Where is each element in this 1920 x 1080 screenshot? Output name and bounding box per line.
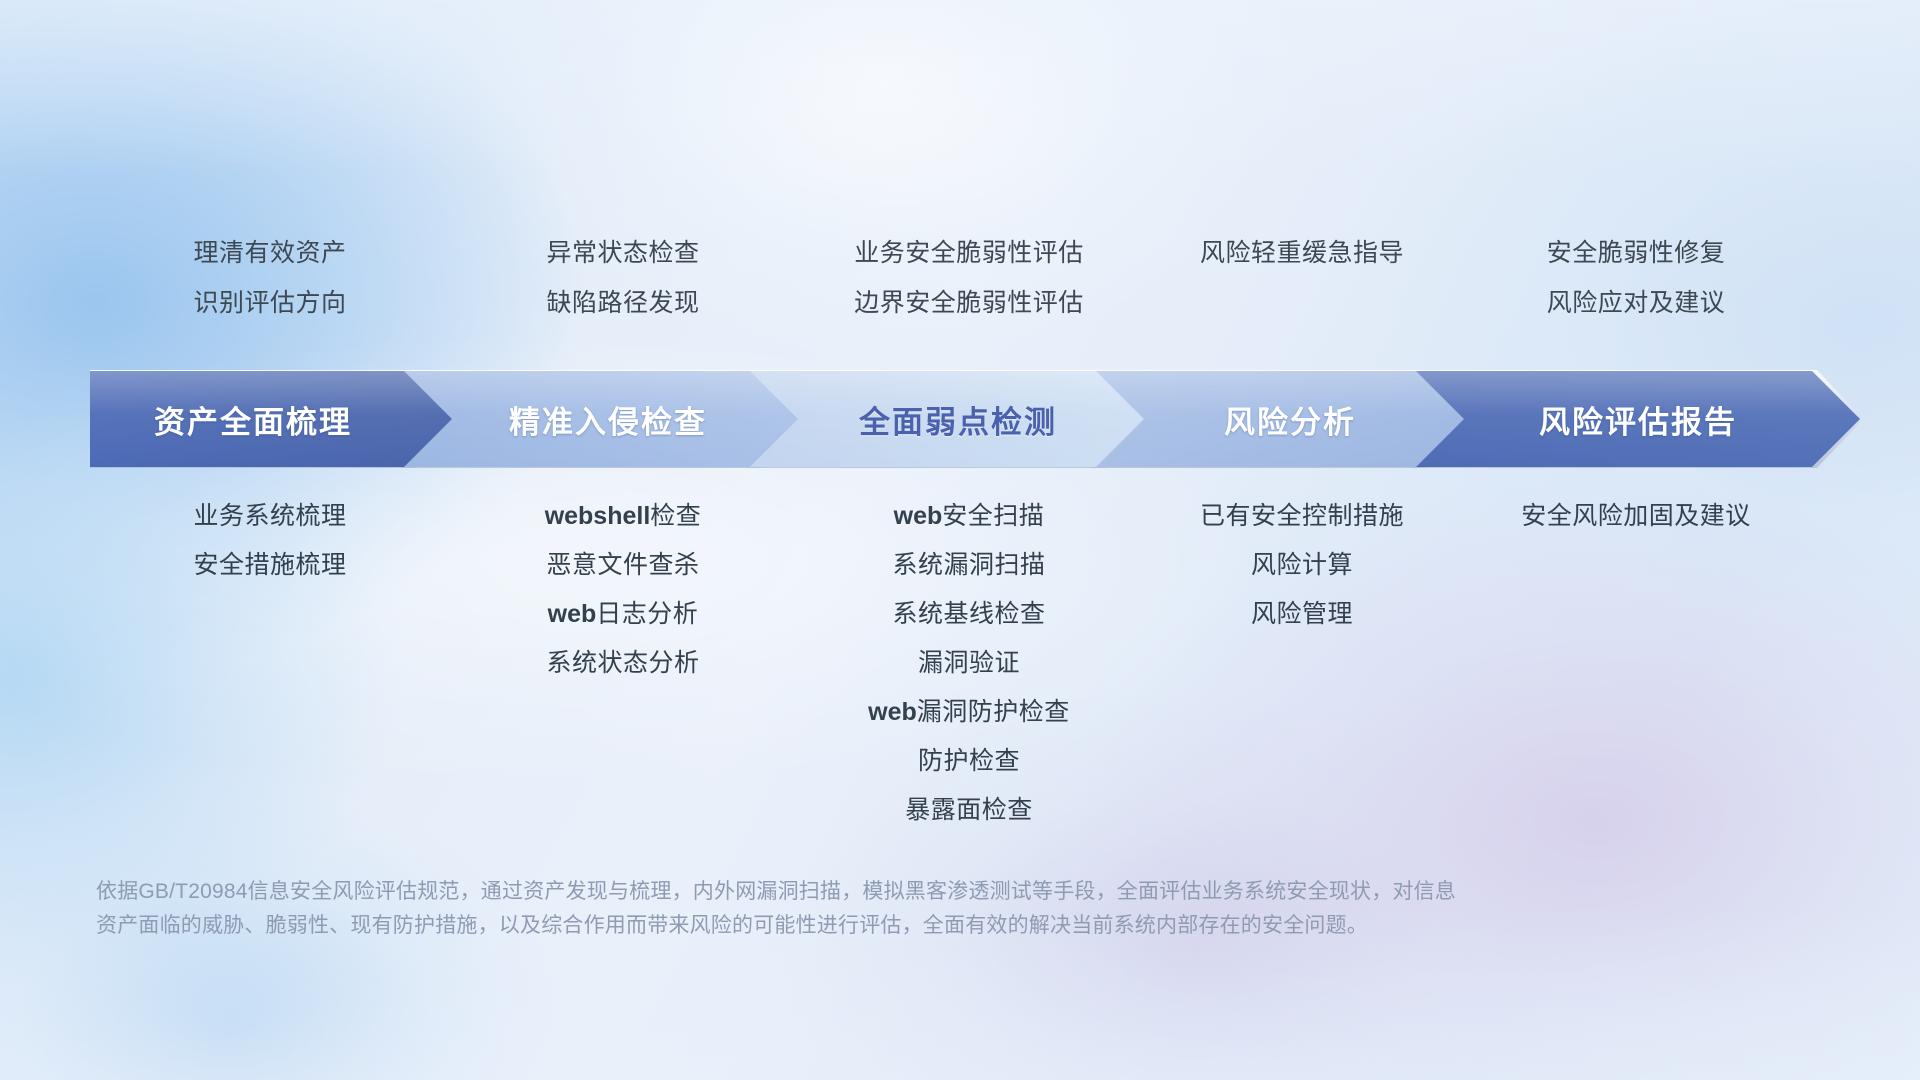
list-item: web漏洞防护检查 [796,688,1142,737]
footer-line-2: 资产面临的威胁、脆弱性、现有防护措施，以及综合作用而带来风险的可能性进行评估，全… [96,909,1656,943]
list-item: 风险管理 [1142,590,1462,639]
list-item: 漏洞验证 [796,639,1142,688]
list-item-suffix: 安全扫描 [942,502,1044,530]
top-note: 异常状态检查 [450,228,796,278]
top-notes-step-4: 风险轻重缓急指导 [1142,228,1462,328]
list-item: 暴露面检查 [796,786,1142,835]
top-notes-step-5: 安全脆弱性修复 风险应对及建议 [1462,228,1810,328]
top-note: 风险应对及建议 [1462,278,1810,328]
list-item: 风险计算 [1142,541,1462,590]
top-notes-step-2: 异常状态检查 缺陷路径发现 [450,228,796,328]
list-item: web日志分析 [450,590,796,639]
chevron-label-step-5[interactable]: 风险评估报告 [1462,397,1860,442]
list-item-suffix: 漏洞防护检查 [917,698,1070,726]
items-step-1: 业务系统梳理 安全措施梳理 [90,492,450,835]
list-item-suffix: 日志分析 [596,600,698,628]
items-step-4: 已有安全控制措施 风险计算 风险管理 [1142,492,1462,835]
items-step-2: webshell检查 恶意文件查杀 web日志分析 系统状态分析 [450,492,796,835]
list-item: 已有安全控制措施 [1142,492,1462,541]
top-note: 边界安全脆弱性评估 [796,278,1142,328]
list-item: 恶意文件查杀 [450,541,796,590]
top-notes-step-1: 理清有效资产 识别评估方向 [90,228,450,328]
list-item-suffix: 检查 [650,502,701,530]
list-item: webshell检查 [450,492,796,541]
process-chevron-band: 资产全面梳理 精准入侵检查 全面弱点检测 风险分析 风险评估报告 [90,370,1860,468]
footer-line-1: 依据GB/T20984信息安全风险评估规范，通过资产发现与梳理，内外网漏洞扫描，… [96,875,1656,909]
list-item: 安全措施梳理 [90,541,450,590]
list-item: 业务系统梳理 [90,492,450,541]
chevron-label-step-1[interactable]: 资产全面梳理 [90,397,450,442]
top-note: 理清有效资产 [90,228,450,278]
list-item: 安全风险加固及建议 [1462,492,1810,541]
chevron-label-step-4[interactable]: 风险分析 [1142,397,1462,442]
list-item: 防护检查 [796,737,1142,786]
top-note: 安全脆弱性修复 [1462,228,1810,278]
chevron-label-step-3[interactable]: 全面弱点检测 [796,397,1142,442]
bottom-lists-row: 业务系统梳理 安全措施梳理 webshell检查 恶意文件查杀 web日志分析 … [90,492,1860,835]
chevron-label-step-2[interactable]: 精准入侵检查 [450,397,796,442]
top-note: 业务安全脆弱性评估 [796,228,1142,278]
slide-content: 理清有效资产 识别评估方向 异常状态检查 缺陷路径发现 业务安全脆弱性评估 边界… [0,0,1920,1080]
top-notes-step-3: 业务安全脆弱性评估 边界安全脆弱性评估 [796,228,1142,328]
list-item: 系统漏洞扫描 [796,541,1142,590]
list-item: 系统基线检查 [796,590,1142,639]
top-note: 缺陷路径发现 [450,278,796,328]
top-notes-row: 理清有效资产 识别评估方向 异常状态检查 缺陷路径发现 业务安全脆弱性评估 边界… [90,228,1860,328]
list-item: 系统状态分析 [450,639,796,688]
items-step-5: 安全风险加固及建议 [1462,492,1810,835]
list-item: web安全扫描 [796,492,1142,541]
chevron-label-row: 资产全面梳理 精准入侵检查 全面弱点检测 风险分析 风险评估报告 [90,370,1860,468]
top-note: 风险轻重缓急指导 [1142,228,1462,278]
slide-canvas: 理清有效资产 识别评估方向 异常状态检查 缺陷路径发现 业务安全脆弱性评估 边界… [0,0,1920,1080]
items-step-3: web安全扫描 系统漏洞扫描 系统基线检查 漏洞验证 web漏洞防护检查 防护检… [796,492,1142,835]
footer-description: 依据GB/T20984信息安全风险评估规范，通过资产发现与梳理，内外网漏洞扫描，… [96,875,1656,943]
top-note: 识别评估方向 [90,278,450,328]
